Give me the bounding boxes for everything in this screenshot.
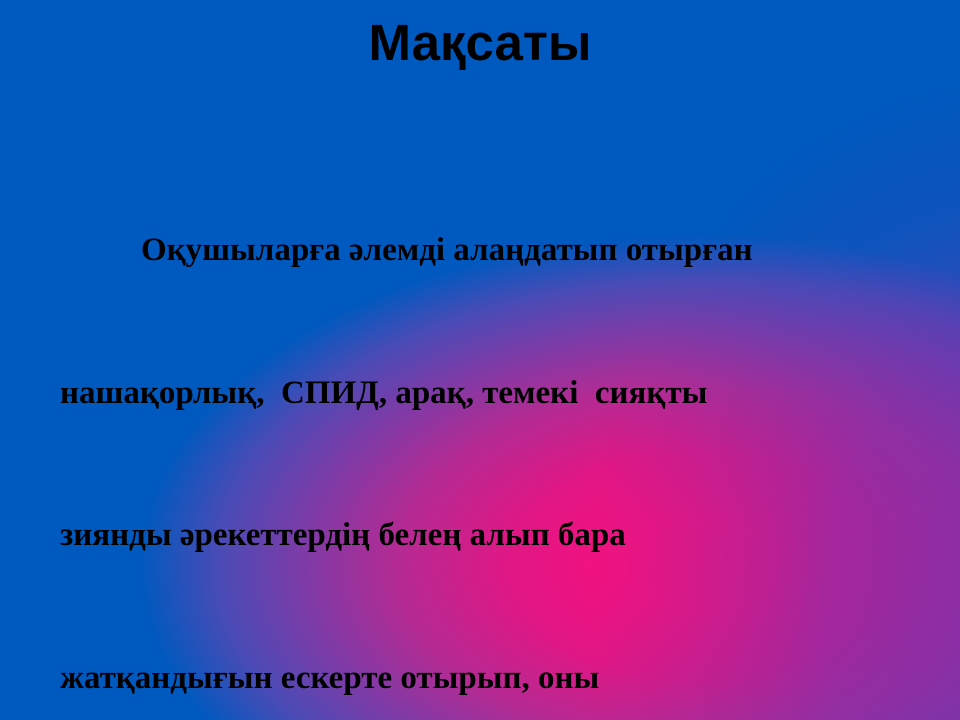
body-line: Оқушыларға әлемді алаңдатып отырған	[60, 227, 910, 275]
body-line: зиянды әрекеттердің белең алып бара	[60, 512, 910, 560]
body-line: жатқандығын ескерте отырып, оны	[60, 655, 910, 703]
slide-content: Мақсаты Оқушыларға әлемді алаңдатып отыр…	[0, 0, 960, 720]
slide-title: Мақсаты	[0, 14, 960, 72]
presentation-slide: Мақсаты Оқушыларға әлемді алаңдатып отыр…	[0, 0, 960, 720]
slide-body-text: Оқушыларға әлемді алаңдатып отырған наша…	[60, 132, 910, 720]
body-line: нашақорлық, СПИД, арақ, темекі сияқты	[60, 370, 910, 418]
